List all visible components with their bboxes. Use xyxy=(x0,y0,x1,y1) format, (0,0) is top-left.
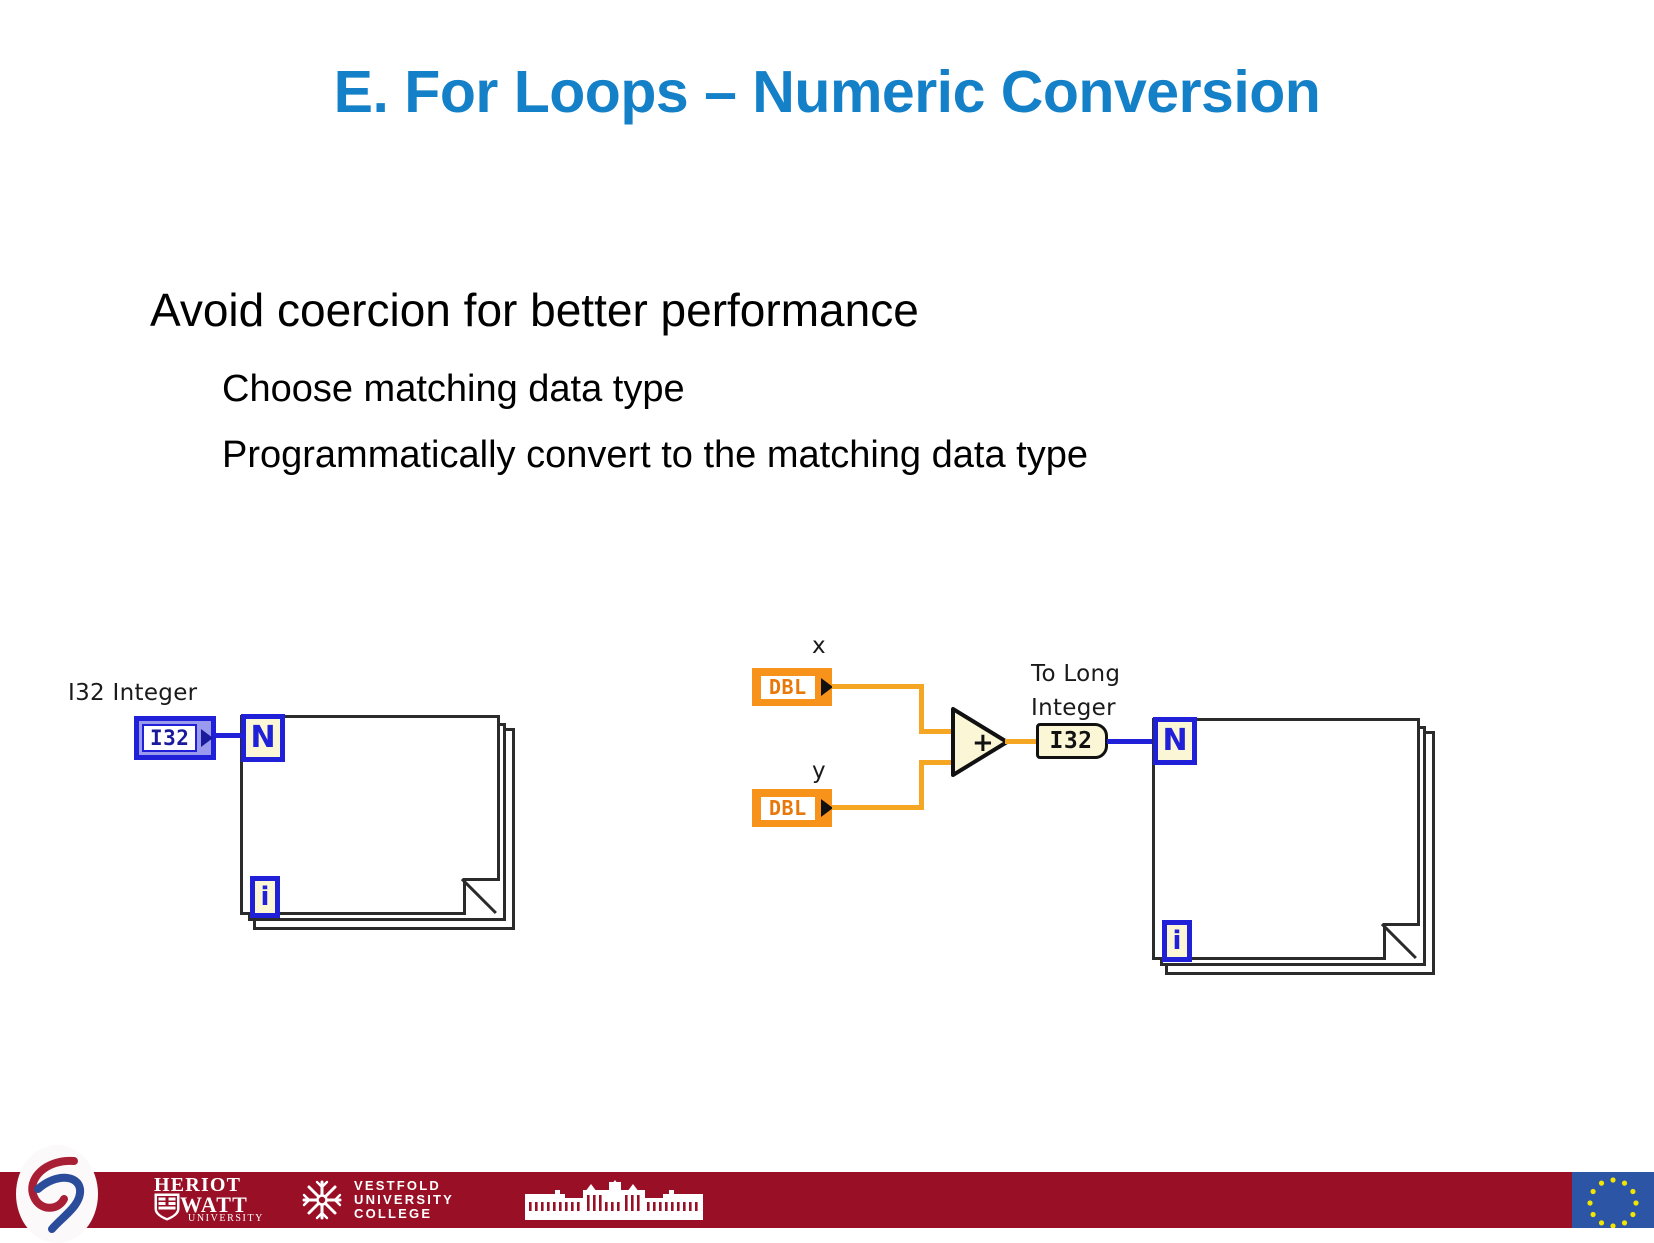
vestfold-line2: UNIVERSITY xyxy=(354,1193,454,1207)
conversion-caption-line2: Integer xyxy=(1031,695,1116,721)
dbl-type-label-x: DBL xyxy=(759,674,817,701)
loop-corner-fold-icon xyxy=(1383,923,1420,960)
bullet-level1-avoid-coercion: Avoid coercion for better performance xyxy=(150,283,919,337)
terminal-arrow-icon xyxy=(201,729,213,747)
i32-integer-caption: I32 Integer xyxy=(68,680,197,706)
vestfold-text-block: VESTFOLD UNIVERSITY COLLEGE xyxy=(354,1179,454,1221)
loop-iteration-terminal-right: i xyxy=(1162,920,1192,962)
building-silhouette-logo xyxy=(525,1180,703,1220)
add-function-node: + xyxy=(950,706,1010,778)
loop-corner-fold-icon xyxy=(463,878,500,915)
wire-x-horizontal xyxy=(832,684,924,689)
wire-conversion-to-n xyxy=(1107,739,1155,744)
input-y-label: y xyxy=(812,758,826,784)
project-swoosh-logo xyxy=(16,1145,98,1243)
vestfold-university-college-logo: VESTFOLD UNIVERSITY COLLEGE xyxy=(300,1178,454,1222)
to-long-integer-node: I32 xyxy=(1036,723,1108,759)
i32-control-terminal: I32 xyxy=(134,716,216,760)
eu-flag-logo xyxy=(1572,1172,1654,1228)
i32-type-label: I32 xyxy=(142,724,197,752)
heriot-watt-logo: HERIOT WATT UNIVERSITY xyxy=(140,1174,260,1226)
heriot-watt-shield-icon xyxy=(154,1193,180,1221)
heriot-watt-line3: UNIVERSITY xyxy=(188,1213,264,1224)
bullet-level2-choose-matching-data-type: Choose matching data type xyxy=(222,368,685,411)
terminal-arrow-icon xyxy=(821,799,833,817)
loop-iteration-terminal-left: i xyxy=(250,876,280,918)
loop-count-terminal-right: N xyxy=(1153,717,1197,765)
terminal-arrow-icon xyxy=(821,678,833,696)
page-title: E. For Loops – Numeric Conversion xyxy=(0,58,1654,126)
svg-text:+: + xyxy=(972,728,994,758)
vestfold-line3: COLLEGE xyxy=(354,1207,454,1221)
conversion-caption-line1: To Long xyxy=(1031,661,1120,687)
snowflake-icon xyxy=(300,1178,344,1222)
bullet-level2-programmatically-convert: Programmatically convert to the matching… xyxy=(222,434,1088,477)
wire-y-vertical xyxy=(919,760,924,810)
wire-i32-to-n-left xyxy=(214,733,244,738)
dbl-type-label-y: DBL xyxy=(759,795,817,822)
vestfold-line1: VESTFOLD xyxy=(354,1179,454,1193)
dbl-control-terminal-x: DBL xyxy=(752,668,832,706)
wire-y-horizontal xyxy=(832,805,924,810)
input-x-label: x xyxy=(812,633,826,659)
wire-x-vertical xyxy=(919,684,924,734)
dbl-control-terminal-y: DBL xyxy=(752,789,832,827)
loop-count-terminal-left: N xyxy=(241,714,285,762)
